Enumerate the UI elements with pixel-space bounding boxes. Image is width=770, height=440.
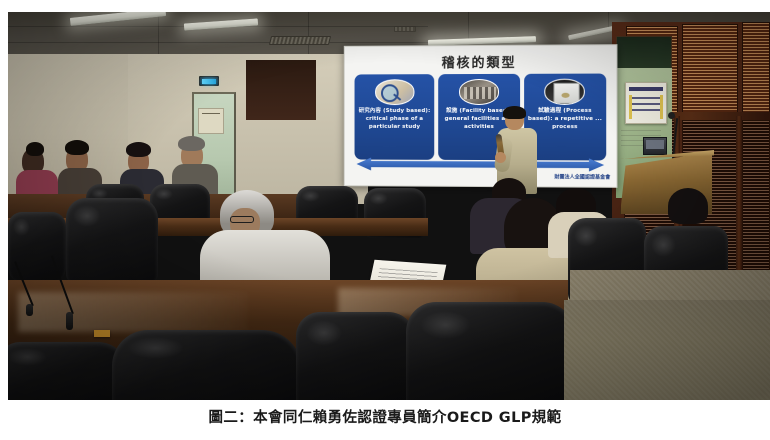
slide-panels: 研究內容 (Study based): critical phase of a … — [355, 74, 607, 161]
presenter-hand — [495, 152, 506, 163]
audience-hair — [26, 142, 44, 156]
air-vent — [269, 36, 331, 45]
laboratory-facility-icon — [459, 79, 499, 105]
slide-panel-text: 研究內容 (Study based): critical phase of a … — [355, 107, 435, 131]
ceiling-tile-seam — [308, 12, 309, 56]
wall-dark-panel — [246, 60, 316, 120]
laboratory-instrument-icon — [545, 79, 586, 105]
gooseneck-microphone-base — [66, 312, 73, 330]
figure-caption: 圖二：本會同仁賴勇佐認證專員簡介OECD GLP規範 — [0, 406, 770, 427]
presenter-hair — [503, 106, 526, 119]
conference-chair[interactable] — [8, 342, 128, 400]
notice-line — [631, 103, 661, 105]
ceiling-tile-seam — [8, 42, 478, 43]
notice-line — [631, 97, 661, 99]
exit-sign — [199, 76, 219, 86]
eyeglasses — [230, 216, 254, 223]
louvered-panel — [682, 24, 738, 116]
table-reflection — [18, 292, 248, 332]
louvered-panel — [742, 22, 770, 116]
audience-hair — [126, 142, 151, 157]
audience-hair — [65, 140, 89, 155]
magnifier-document-icon — [375, 79, 414, 105]
projection-screen: 稽核的類型 研究內容 (Study based): critical phase… — [344, 44, 618, 188]
slide-logo: 財團法人全國認證基金會 — [537, 173, 610, 183]
notice-heading — [629, 87, 663, 91]
audience-hair — [178, 136, 205, 151]
door-notice — [198, 108, 224, 134]
notice-tab — [629, 95, 632, 119]
gooseneck-microphone-base — [26, 304, 33, 316]
conference-chair[interactable] — [112, 330, 302, 400]
slide-title: 稽核的類型 — [345, 51, 617, 71]
slide-footnote — [353, 171, 501, 182]
podium-microphone — [668, 112, 675, 119]
figure-page: 稽核的類型 研究內容 (Study based): critical phase… — [0, 0, 770, 440]
upper-dark-window — [616, 36, 672, 70]
air-vent — [394, 26, 416, 32]
conference-chair[interactable] — [296, 312, 416, 400]
podium-laptop — [643, 137, 667, 155]
table-name-plate — [94, 330, 110, 337]
slide-panel-study-based: 研究內容 (Study based): critical phase of a … — [355, 74, 435, 160]
audience-torso — [16, 170, 58, 196]
notice-poster — [625, 82, 667, 124]
audience-member-back-6-head — [668, 188, 708, 224]
carpet-floor — [564, 300, 770, 400]
conference-room-photo: 稽核的類型 研究內容 (Study based): critical phase… — [8, 12, 770, 400]
notice-tab — [660, 95, 663, 119]
ceiling-tile-seam — [158, 12, 159, 56]
conference-chair[interactable] — [406, 302, 576, 400]
notice-line — [631, 109, 661, 111]
conference-chair[interactable] — [66, 198, 158, 284]
